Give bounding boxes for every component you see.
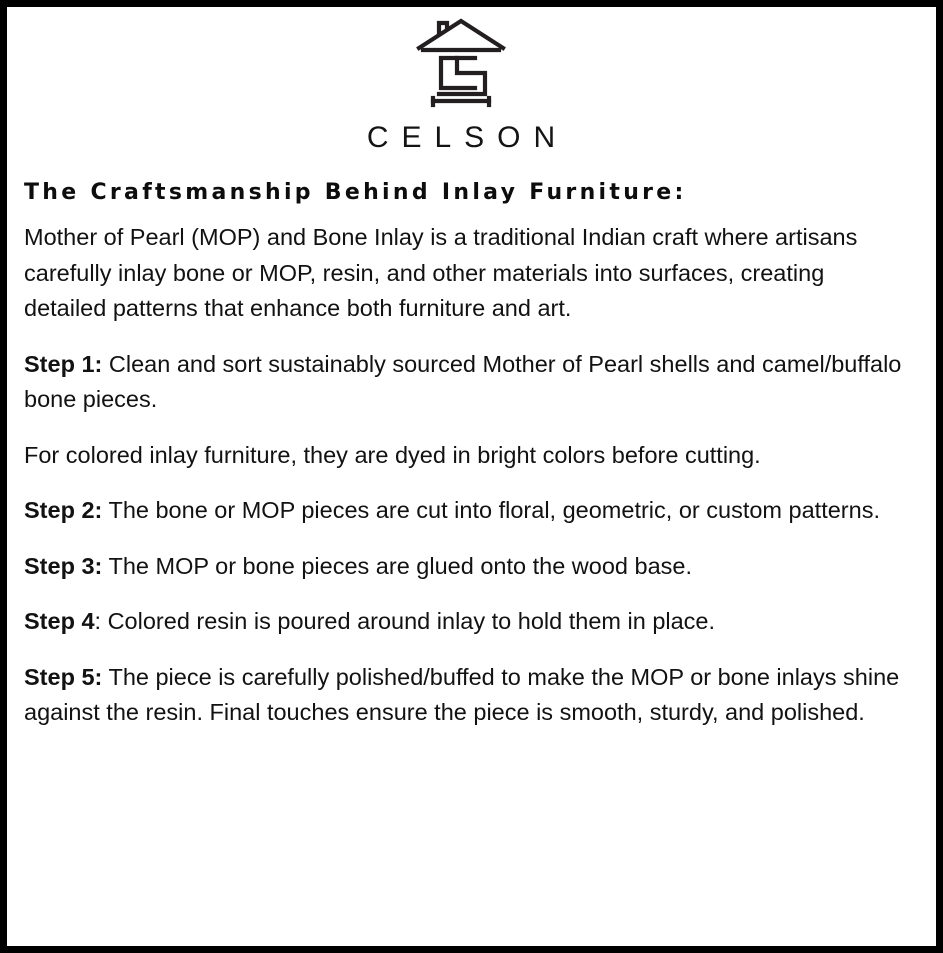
brand-logo-block: CELSON [16,11,906,153]
paragraph-step-1: Step 1: Clean and sort sustainably sourc… [24,347,906,418]
house-monogram-logo-icon [413,15,509,115]
step-label: Step 2: [24,497,102,523]
poster-frame: CELSON The Craftsmanship Behind Inlay Fu… [0,0,943,953]
paragraph-text: The bone or MOP pieces are cut into flor… [102,497,880,523]
step-label: Step 5: [24,664,102,690]
paragraph-text: The MOP or bone pieces are glued onto th… [102,553,692,579]
step-label: Step 4 [24,608,95,634]
brand-wordmark: CELSON [16,123,906,153]
paragraph-step-2: Step 2: The bone or MOP pieces are cut i… [24,493,906,529]
paragraph-text: : Colored resin is poured around inlay t… [95,608,716,634]
paragraph-step-3: Step 3: The MOP or bone pieces are glued… [24,549,906,585]
paragraph-intro: Mother of Pearl (MOP) and Bone Inlay is … [24,220,906,327]
paragraph-text: Mother of Pearl (MOP) and Bone Inlay is … [24,224,857,321]
step-label: Step 3: [24,553,102,579]
page-title: The Craftsmanship Behind Inlay Furniture… [24,180,906,206]
paragraph-step-4: Step 4: Colored resin is poured around i… [24,604,906,640]
body-copy: Mother of Pearl (MOP) and Bone Inlay is … [24,206,906,731]
poster-content: CELSON The Craftsmanship Behind Inlay Fu… [7,7,936,946]
paragraph-text: For colored inlay furniture, they are dy… [24,442,761,468]
paragraph-step-5: Step 5: The piece is carefully polished/… [24,660,906,731]
paragraph-colored-inlay-note: For colored inlay furniture, they are dy… [24,438,906,474]
paragraph-text: The piece is carefully polished/buffed t… [24,664,899,726]
step-label: Step 1: [24,351,102,377]
paragraph-text: Clean and sort sustainably sourced Mothe… [24,351,901,413]
